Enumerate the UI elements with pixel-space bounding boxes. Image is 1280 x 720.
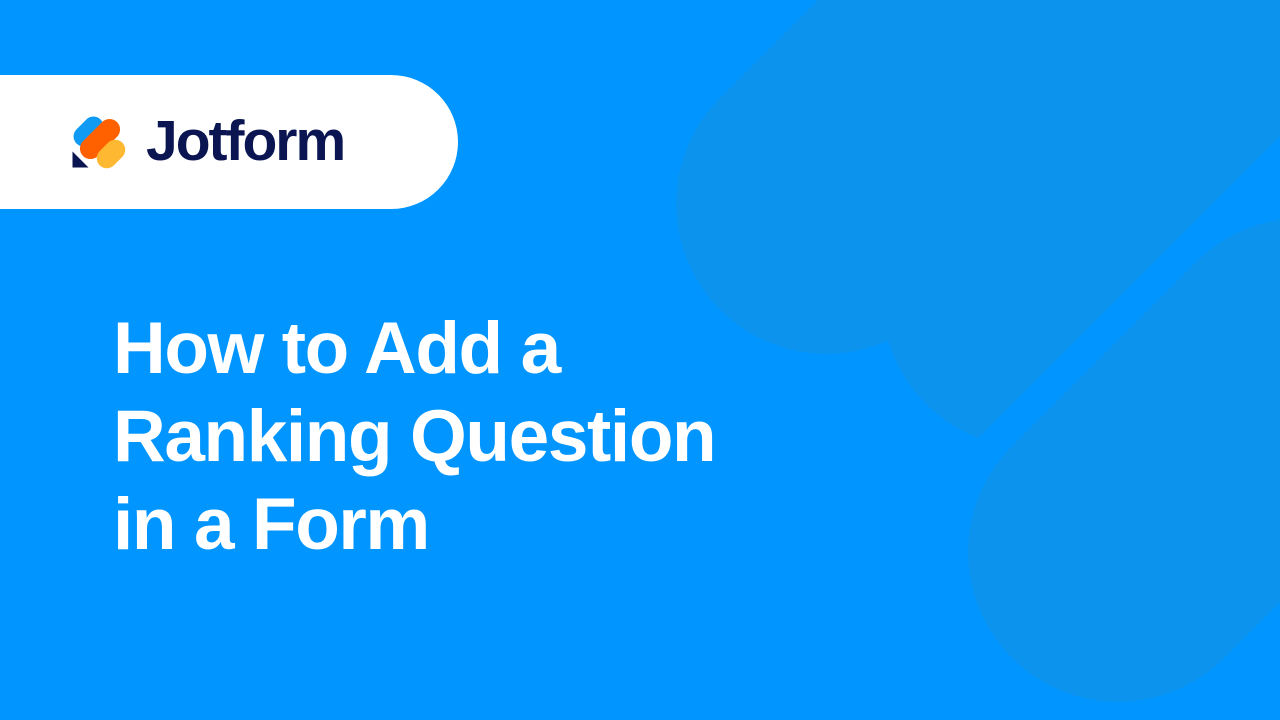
- jotform-mark-icon: [70, 113, 128, 171]
- brand-logo-pill: Jotform: [0, 75, 458, 209]
- title-line-3: in a Form: [113, 481, 873, 569]
- diagonal-pill-shape: [820, 0, 1280, 510]
- title-card: Jotform How to Add a Ranking Question in…: [0, 0, 1280, 720]
- title-line-1: How to Add a: [113, 305, 873, 393]
- diagonal-gap-stripe: [838, 0, 1280, 625]
- jotform-logo-lockup: Jotform: [70, 113, 344, 171]
- page-title: How to Add a Ranking Question in a Form: [113, 305, 873, 569]
- title-line-2: Ranking Question: [113, 393, 873, 481]
- diagonal-pill-shape: [906, 156, 1280, 720]
- jotform-wordmark: Jotform: [146, 113, 344, 170]
